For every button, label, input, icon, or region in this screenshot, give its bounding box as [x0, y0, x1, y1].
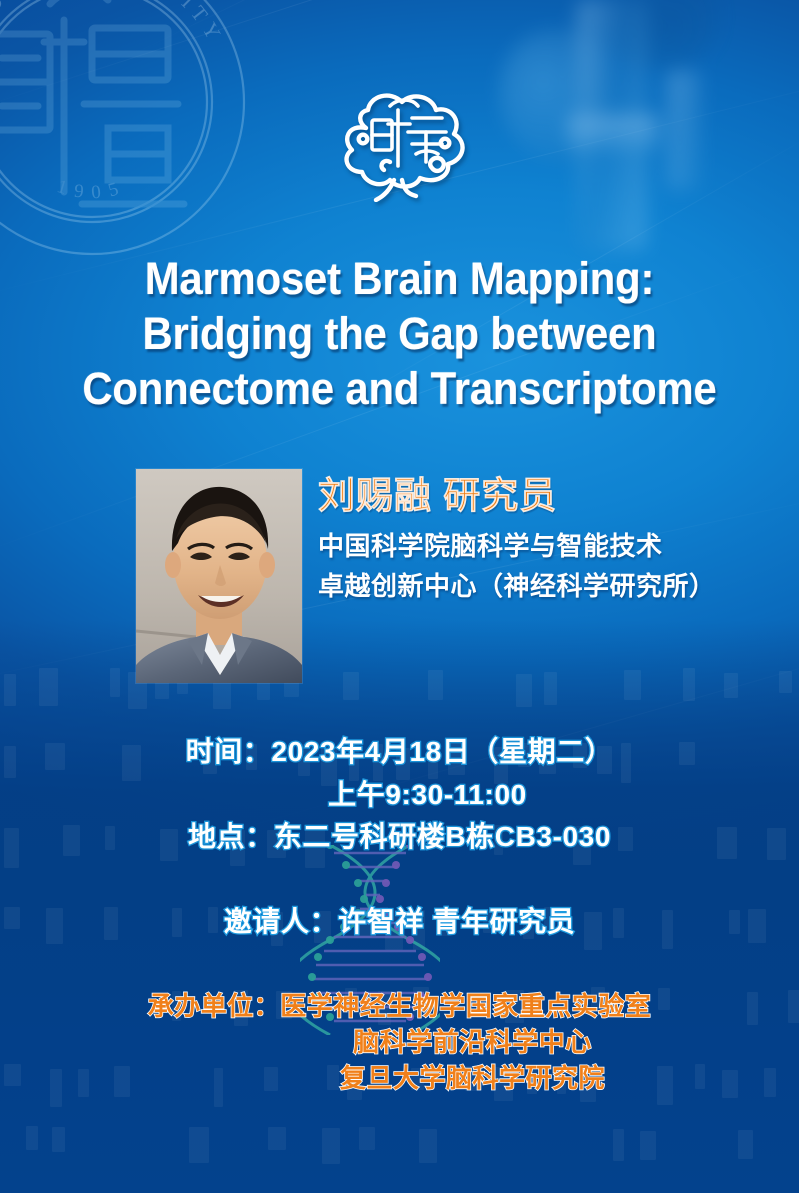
speaker-photo — [136, 469, 302, 683]
poster-title: Marmoset Brain Mapping: Bridging the Gap… — [28, 251, 771, 416]
organizer-list: 承办单位：医学神经生物学国家重点实验室 脑科学前沿科学中心 复旦大学脑科学研究院 — [0, 989, 799, 1097]
organizer-line-3: 复旦大学脑科学研究院 — [0, 1061, 799, 1097]
title-line-3: Connectome and Transcriptome — [28, 361, 771, 416]
organizer-line-2: 脑科学前沿科学中心 — [0, 1025, 799, 1061]
speaker-affiliation-line-2: 卓越创新中心（神经科学研究所） — [318, 566, 758, 606]
event-date: 时间：2023年4月18日（星期二） — [0, 731, 799, 774]
event-time: 上午9:30-11:00 — [0, 774, 799, 817]
speaker-name: 刘赐融 研究员 — [318, 476, 758, 516]
event-details: 时间：2023年4月18日（星期二） 上午9:30-11:00 地点：东二号科研… — [0, 731, 799, 859]
brain-science-logo-icon — [332, 84, 477, 202]
speaker-affiliation-line-1: 中国科学院脑科学与智能技术 — [318, 526, 758, 566]
title-line-2: Bridging the Gap between — [28, 306, 771, 361]
invitation-line: 邀请人：许智祥 青年研究员 — [0, 902, 799, 941]
title-line-1: Marmoset Brain Mapping: — [28, 251, 771, 306]
seminar-poster: FUDAN UNIVERSITY 1905 — [0, 0, 799, 1193]
speaker-info: 刘赐融 研究员 中国科学院脑科学与智能技术 卓越创新中心（神经科学研究所） — [318, 476, 758, 607]
organizer-line-1: 承办单位：医学神经生物学国家重点实验室 — [0, 989, 799, 1025]
event-venue: 地点：东二号科研楼B栋CB3-030 — [0, 816, 799, 859]
